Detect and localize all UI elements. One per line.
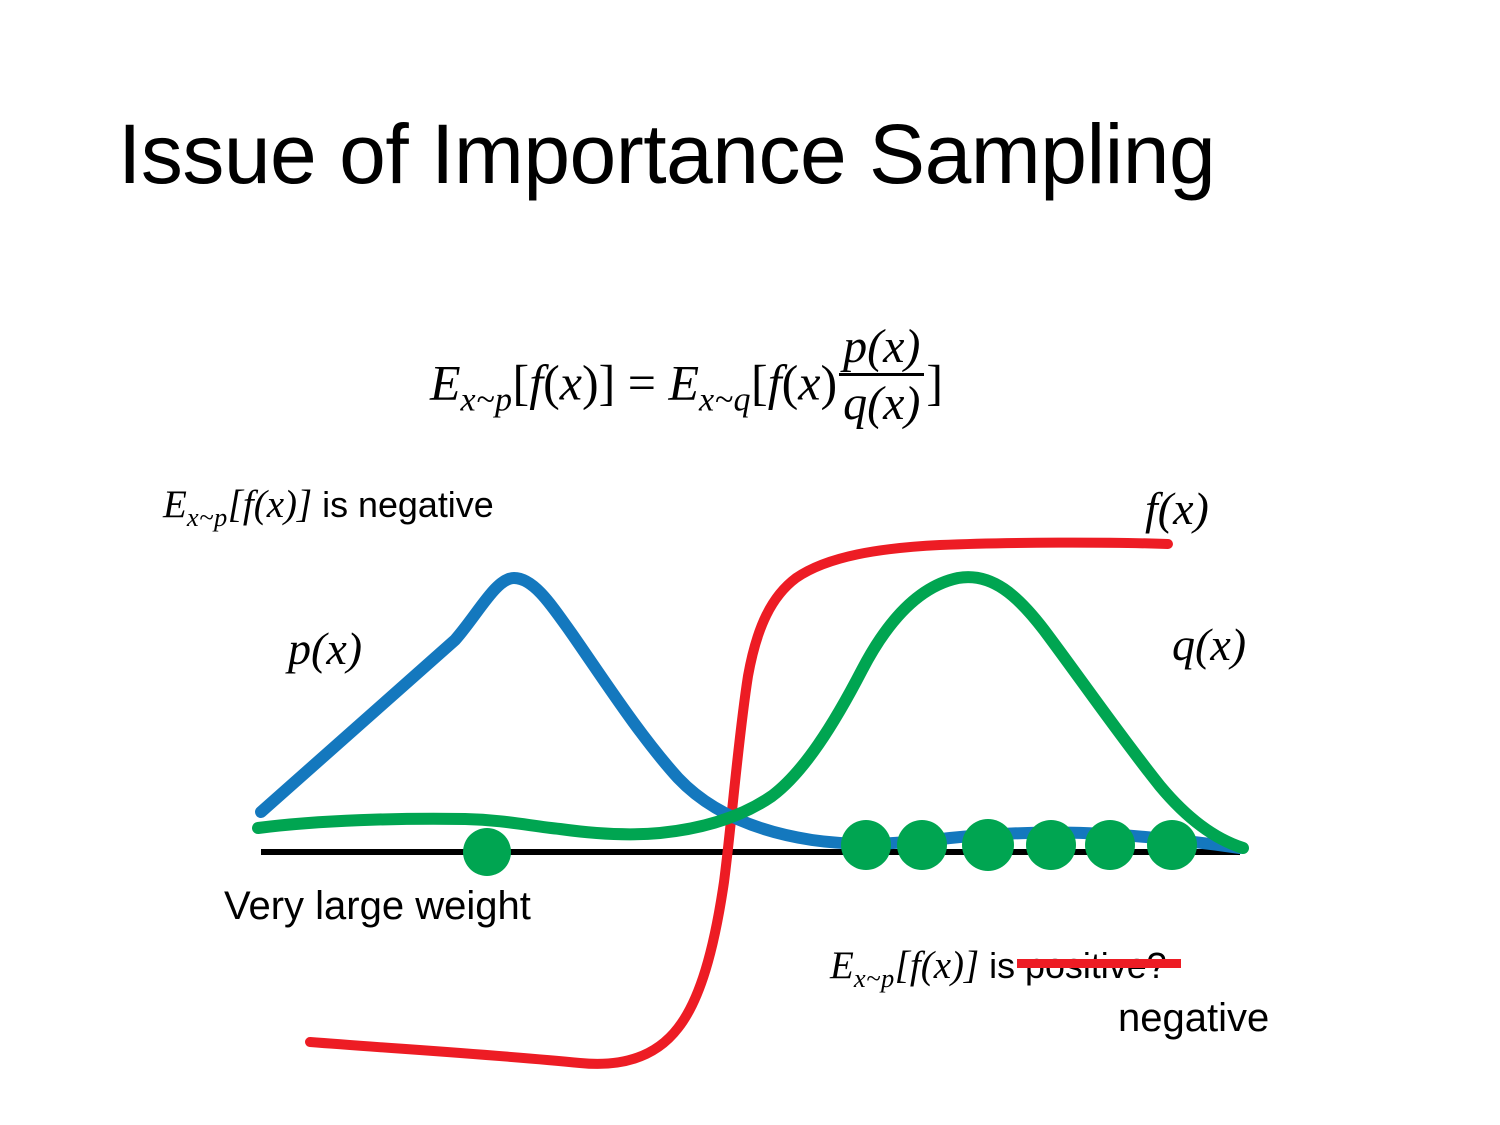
sample-dot-right-5 bbox=[1085, 820, 1135, 870]
annotation-expectation-positive-corrected: Ex~p[f(x)] is positive? bbox=[830, 943, 1167, 994]
annotation-correction-negative: negative bbox=[1118, 996, 1269, 1041]
sample-dot-right-1 bbox=[841, 820, 891, 870]
sample-dot-left bbox=[463, 828, 511, 876]
annot-pos-struck-wrapper: positive? bbox=[1025, 943, 1167, 988]
importance-sampling-plot bbox=[0, 0, 1500, 1125]
strikethrough-icon bbox=[1017, 959, 1181, 968]
sample-dot-right-4 bbox=[1026, 820, 1076, 870]
annot-pos-E: E bbox=[830, 944, 854, 987]
annot-pos-subscript: x~p bbox=[854, 963, 895, 993]
slide-canvas: Issue of Importance Sampling Ex~p[f(x)] … bbox=[0, 0, 1500, 1125]
curve-q-green bbox=[258, 577, 1243, 848]
annot-pos-bracket: [f(x)] bbox=[895, 944, 979, 987]
sample-dot-right-2 bbox=[897, 820, 947, 870]
sample-dot-right-3 bbox=[962, 819, 1014, 871]
sample-dot-right-6 bbox=[1147, 820, 1197, 870]
annotation-very-large-weight: Very large weight bbox=[224, 884, 531, 929]
